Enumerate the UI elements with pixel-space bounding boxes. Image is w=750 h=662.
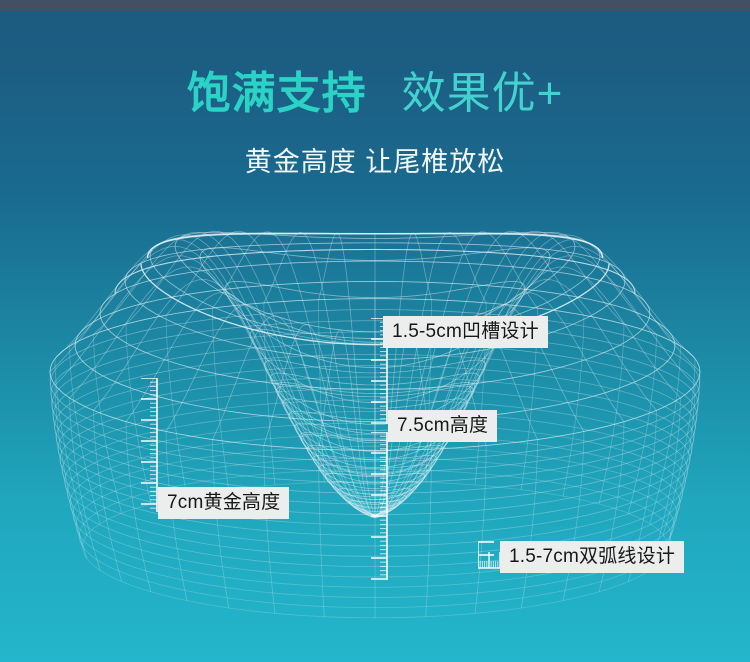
callout-golden-height: 7cm黄金高度 xyxy=(158,487,289,519)
subtitle: 黄金高度 让尾椎放松 xyxy=(0,140,750,179)
callout-double-arc-design: 1.5-7cm双弧线设计 xyxy=(500,541,684,573)
callout-groove-design: 1.5-5cm凹槽设计 xyxy=(383,316,548,348)
headline: 饱满支持 效果优+ xyxy=(0,72,750,116)
headline-main: 饱满支持 xyxy=(187,69,367,118)
callout-total-height: 7.5cm高度 xyxy=(388,410,497,442)
headline-secondary: 效果优+ xyxy=(402,69,564,118)
ruler-center-lower xyxy=(364,432,390,580)
ruler-left-height xyxy=(134,378,160,512)
promo-banner: 饱满支持 效果优+ 黄金高度 让尾椎放松 1.5-5cm凹槽设计 7.5cm高度… xyxy=(0,0,750,662)
